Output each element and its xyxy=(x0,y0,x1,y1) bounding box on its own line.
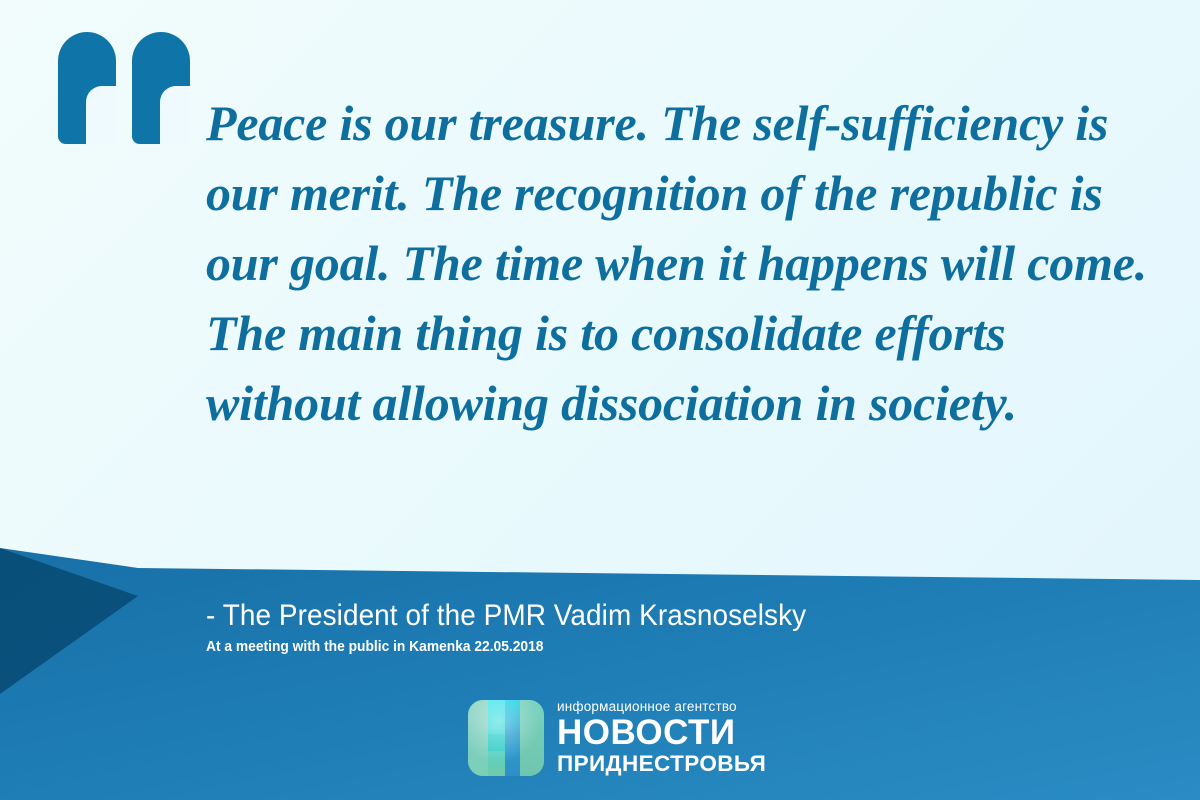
logo-subname: ПРИДНЕСТРОВЬЯ xyxy=(557,752,766,776)
logo-wordmark: информационное агентство НОВОСТИ ПРИДНЕС… xyxy=(557,699,766,776)
attribution-author: - The President of the PMR Vadim Krasnos… xyxy=(206,598,1043,634)
logo-mark-icon xyxy=(468,700,544,776)
logo-name: НОВОСТИ xyxy=(557,716,766,750)
quote-card: Peace is our treasure. The self-sufficie… xyxy=(0,0,1200,800)
attribution-occasion: At a meeting with the public in Kamenka … xyxy=(206,637,1034,656)
site-logo: информационное агентство НОВОСТИ ПРИДНЕС… xyxy=(468,699,766,776)
opening-double-quote-icon xyxy=(58,32,190,144)
quote-text: Peace is our treasure. The self-sufficie… xyxy=(206,88,1166,438)
attribution: - The President of the PMR Vadim Krasnos… xyxy=(206,598,1106,656)
